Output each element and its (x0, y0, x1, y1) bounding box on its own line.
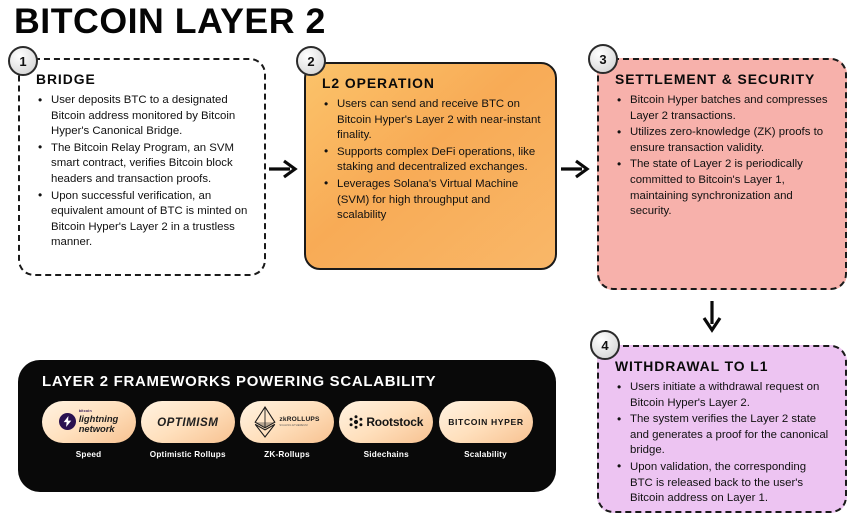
arrow-right-icon (560, 158, 590, 185)
infographic-canvas: BITCOIN LAYER 2 1 BRIDGE User deposits B… (0, 0, 860, 520)
step-badge-1: 1 (8, 46, 38, 76)
lightning-network-logo: bitcoin lightning network (56, 410, 122, 433)
framework-item-optimistic-rollups: OPTIMISM Optimistic Rollups (139, 401, 236, 459)
list-item: Utilizes zero-knowledge (ZK) proofs to e… (615, 125, 831, 156)
list-item: Upon validation, the corresponding BTC i… (615, 460, 831, 507)
list-item: Supports complex DeFi operations, like s… (322, 145, 541, 176)
logo-subtext: SCALING ETHEREUM (279, 425, 319, 428)
step-badge-2: 2 (296, 46, 326, 76)
logo-text: zkROLLUPS (279, 417, 319, 424)
step-card-settlement-security: SETTLEMENT & SECURITY Bitcoin Hyper batc… (597, 58, 847, 290)
list-item: Upon successful verification, an equival… (36, 189, 250, 251)
rootstock-logo: Rootstock (349, 415, 423, 429)
framework-caption: Speed (76, 450, 102, 459)
step-badge-3: 3 (588, 44, 618, 74)
logo-text: Rootstock (366, 415, 423, 429)
step-card-title-3: SETTLEMENT & SECURITY (615, 72, 837, 88)
framework-caption: Scalability (464, 450, 507, 459)
arrow-right-icon (268, 158, 298, 185)
step-card-withdrawal-to-l1: WITHDRAWAL TO L1 Users initiate a withdr… (597, 345, 847, 513)
step-bullet-list-2: Users can send and receive BTC on Bitcoi… (322, 97, 541, 224)
list-item: Users initiate a withdrawal request on B… (615, 380, 831, 411)
framework-caption: Optimistic Rollups (150, 450, 226, 459)
framework-pill: Rootstock (339, 401, 433, 443)
step-card-title-1: BRIDGE (36, 72, 256, 88)
step-card-bridge: BRIDGE User deposits BTC to a designated… (18, 58, 266, 276)
list-item: Users can send and receive BTC on Bitcoi… (322, 97, 541, 144)
list-item: The Bitcoin Relay Program, an SVM smart … (36, 141, 250, 188)
framework-pill: BITCOIN HYPER (439, 401, 533, 443)
list-item: The system verifies the Layer 2 state an… (615, 412, 831, 459)
frameworks-panel: LAYER 2 FRAMEWORKS POWERING SCALABILITY … (18, 360, 556, 492)
step-card-title-4: WITHDRAWAL TO L1 (615, 359, 837, 375)
framework-item-speed: bitcoin lightning network Speed (40, 401, 137, 459)
zk-rollups-logo: zkROLLUPS SCALING ETHEREUM (250, 406, 323, 438)
arrow-down-icon (700, 300, 724, 339)
framework-pill: bitcoin lightning network (42, 401, 136, 443)
framework-item-sidechains: Rootstock Sidechains (338, 401, 435, 459)
ethereum-diamond-icon (254, 406, 276, 438)
step-card-title-2: L2 OPERATION (322, 76, 548, 92)
rootstock-dots-icon (349, 415, 363, 429)
framework-caption: ZK-Rollups (264, 450, 310, 459)
list-item: The state of Layer 2 is periodically com… (615, 157, 831, 219)
framework-caption: Sidechains (364, 450, 409, 459)
step-bullet-list-3: Bitcoin Hyper batches and compresses Lay… (615, 93, 831, 220)
frameworks-heading: LAYER 2 FRAMEWORKS POWERING SCALABILITY (42, 374, 553, 390)
optimism-logo: OPTIMISM (157, 416, 218, 429)
list-item: Leverages Solana's Virtual Machine (SVM)… (322, 177, 541, 224)
step-card-l2-operation: L2 OPERATION Users can send and receive … (304, 62, 557, 270)
step-bullet-list-4: Users initiate a withdrawal request on B… (615, 380, 831, 507)
step-badge-4: 4 (590, 330, 620, 360)
list-item: User deposits BTC to a designated Bitcoi… (36, 93, 250, 140)
framework-item-scalability: BITCOIN HYPER Scalability (437, 401, 534, 459)
framework-pill: zkROLLUPS SCALING ETHEREUM (240, 401, 334, 443)
bitcoin-hyper-logo: BITCOIN HYPER (448, 418, 524, 427)
page-title: BITCOIN LAYER 2 (14, 2, 326, 42)
frameworks-row: bitcoin lightning network Speed OPTIMISM… (36, 401, 538, 459)
framework-pill: OPTIMISM (141, 401, 235, 443)
list-item: Bitcoin Hyper batches and compresses Lay… (615, 93, 831, 124)
step-bullet-list-1: User deposits BTC to a designated Bitcoi… (36, 93, 250, 251)
framework-item-zk-rollups: zkROLLUPS SCALING ETHEREUM ZK-Rollups (239, 401, 336, 459)
logo-line-2: network (79, 424, 119, 434)
lightning-bolt-icon (59, 413, 76, 430)
